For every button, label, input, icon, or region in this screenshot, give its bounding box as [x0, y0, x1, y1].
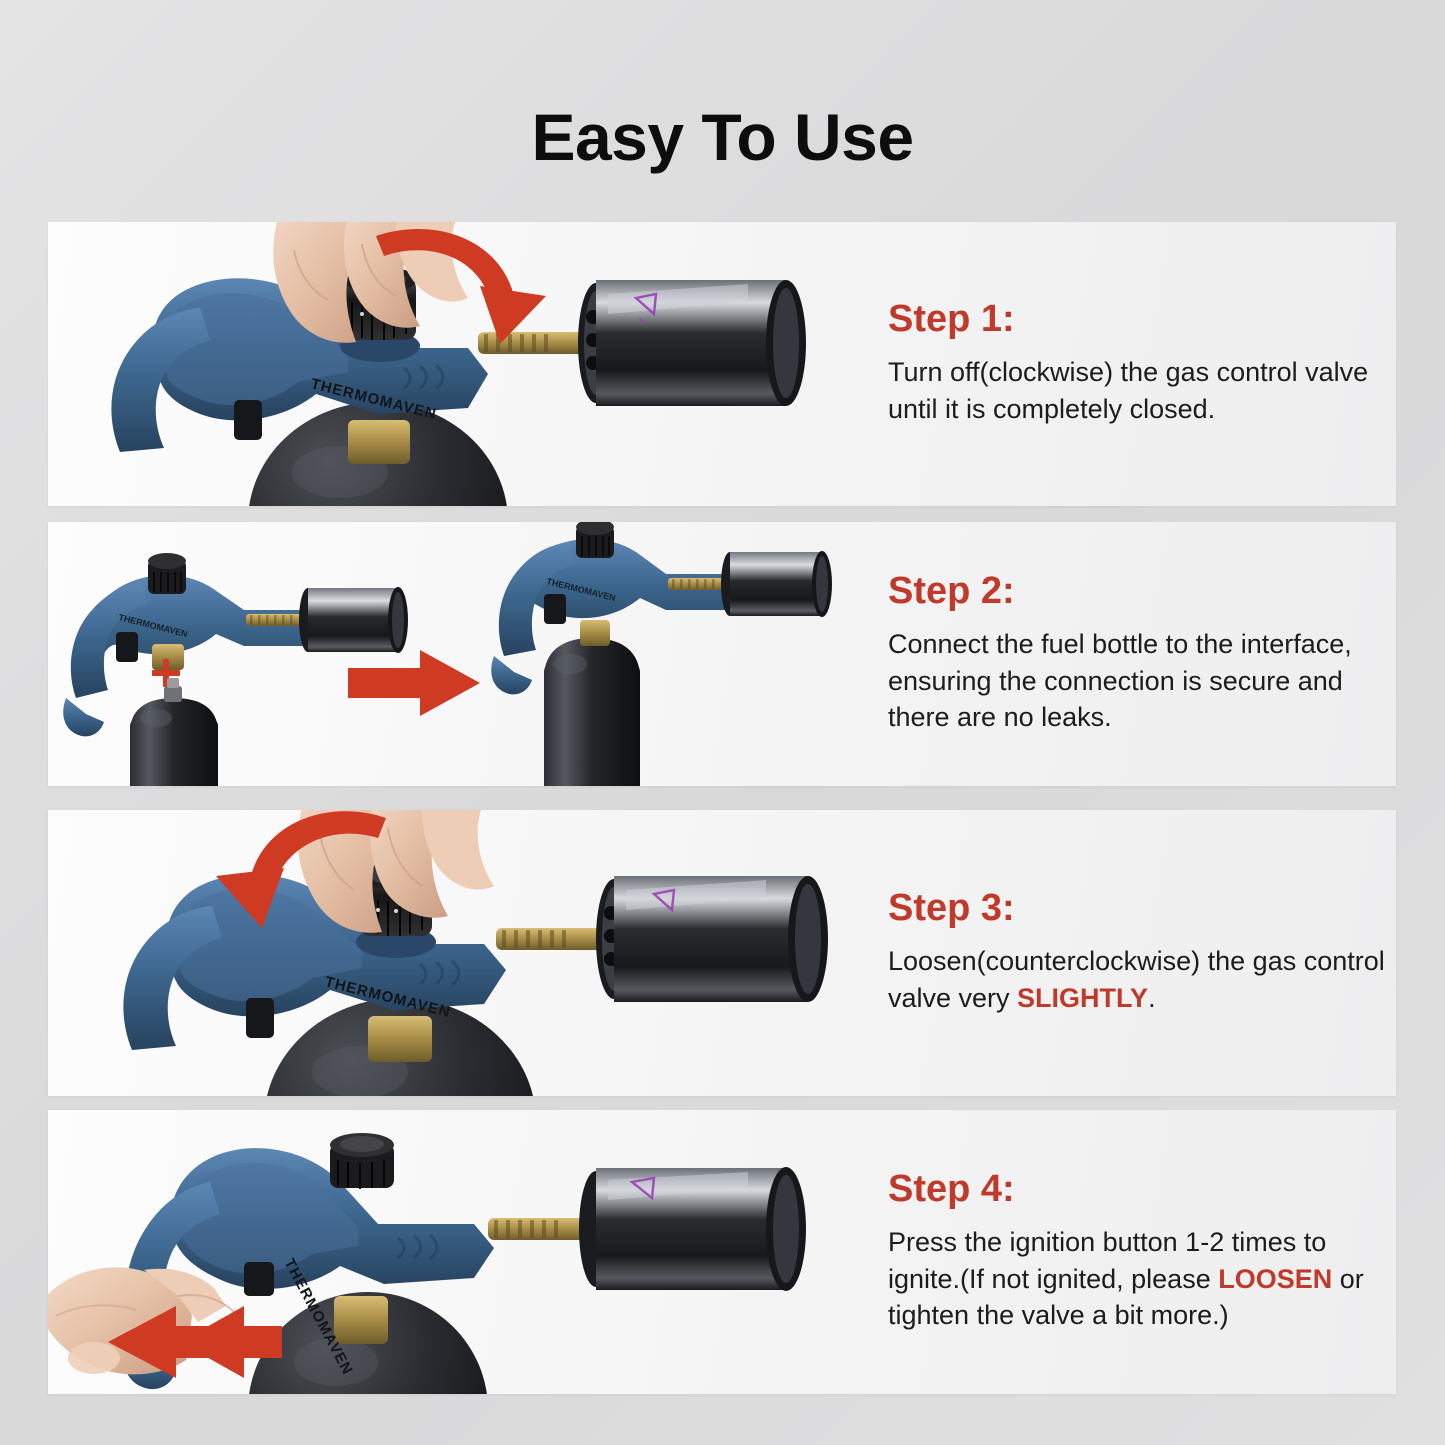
- step-panel-4: THERMOMAVEN: [48, 1110, 1396, 1394]
- step-panel-2: THERMOMAVEN: [48, 522, 1396, 786]
- fuel-bottle: [248, 402, 508, 506]
- step-3-body-post: .: [1148, 983, 1156, 1013]
- trigger: [244, 1262, 274, 1296]
- burner-head: [488, 1167, 806, 1291]
- fuel-bottle-attached: [544, 638, 640, 786]
- step-4-illustration: THERMOMAVEN: [48, 1110, 878, 1394]
- step-4-text: Step 4: Press the ignition button 1-2 ti…: [888, 1110, 1388, 1394]
- trigger: [234, 400, 262, 440]
- step-4-heading: Step 4:: [888, 1170, 1388, 1210]
- burner-head: [496, 876, 828, 1002]
- step-3-body: Loosen(counterclockwise) the gas control…: [888, 943, 1388, 1016]
- step-1-body: Turn off(clockwise) the gas control valv…: [888, 354, 1388, 427]
- step-3-heading: Step 3:: [888, 889, 1388, 929]
- step-panel-3: THERMOMAVEN: [48, 810, 1396, 1096]
- step-1-illustration: THERMOMAVEN: [48, 222, 878, 506]
- valve-knob-small: [148, 553, 186, 594]
- trigger: [246, 998, 274, 1038]
- step-1-heading: Step 1:: [888, 300, 1388, 340]
- page-title: Easy To Use: [0, 99, 1445, 175]
- straight-arrow-right: [348, 650, 480, 716]
- fuel-bottle-detached: [130, 678, 218, 786]
- step-3-body-highlight: SLIGHTLY: [1017, 983, 1148, 1013]
- valve-knob: [330, 1133, 394, 1189]
- valve-knob-small-2: [576, 522, 614, 558]
- step-2-body-pre: Connect the fuel bottle to the interface…: [888, 629, 1352, 732]
- step-1-body-pre: Turn off(clockwise) the gas control valv…: [888, 357, 1368, 424]
- torch-head-detached: THERMOMAVEN: [63, 553, 408, 736]
- step-2-body: Connect the fuel bottle to the interface…: [888, 626, 1388, 736]
- step-4-body: Press the ignition button 1-2 times to i…: [888, 1224, 1388, 1334]
- step-2-heading: Step 2:: [888, 572, 1388, 612]
- step-4-body-highlight: LOOSEN: [1218, 1264, 1332, 1294]
- step-3-text: Step 3: Loosen(counterclockwise) the gas…: [888, 810, 1388, 1096]
- step-2-text: Step 2: Connect the fuel bottle to the i…: [888, 522, 1388, 786]
- step-3-illustration: THERMOMAVEN: [48, 810, 878, 1096]
- infographic-page: Easy To Use: [0, 0, 1445, 1445]
- step-2-illustration: THERMOMAVEN: [48, 522, 878, 786]
- step-panel-1: THERMOMAVEN: [48, 222, 1396, 506]
- fuel-bottle: [264, 998, 536, 1096]
- fuel-bottle: [248, 1292, 488, 1394]
- torch-assembled: THERMOMAVEN: [491, 522, 832, 786]
- step-1-text: Step 1: Turn off(clockwise) the gas cont…: [888, 222, 1388, 506]
